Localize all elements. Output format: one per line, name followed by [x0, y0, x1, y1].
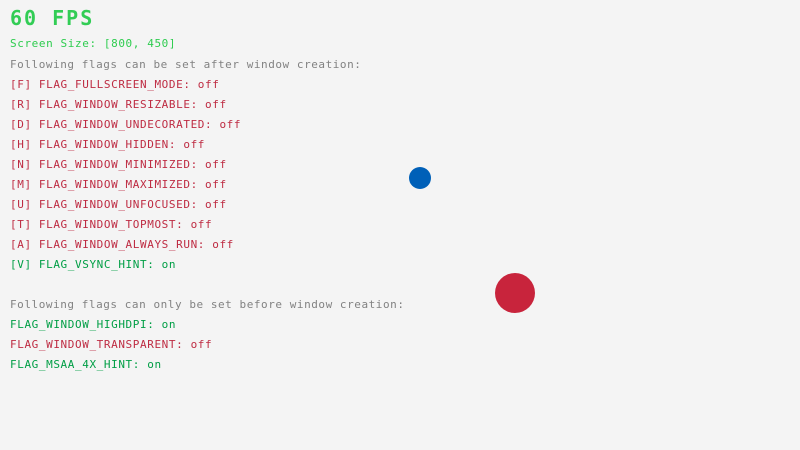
flag-toggle-flag-fullscreen-mode[interactable]: [F] FLAG_FULLSCREEN_MODE: off	[10, 79, 219, 90]
flag-static-flag-window-highdpi[interactable]: FLAG_WINDOW_HIGHDPI: on	[10, 319, 176, 330]
flag-toggle-flag-window-resizable[interactable]: [R] FLAG_WINDOW_RESIZABLE: off	[10, 99, 227, 110]
flag-toggle-flag-window-undecorated[interactable]: [D] FLAG_WINDOW_UNDECORATED: off	[10, 119, 241, 130]
flag-toggle-flag-window-minimized[interactable]: [N] FLAG_WINDOW_MINIMIZED: off	[10, 159, 227, 170]
flag-toggle-flag-window-topmost[interactable]: [T] FLAG_WINDOW_TOPMOST: off	[10, 219, 212, 230]
screen-size-label: Screen Size: [800, 450]	[10, 38, 176, 49]
flag-static-flag-msaa-4x-hint[interactable]: FLAG_MSAA_4X_HINT: on	[10, 359, 162, 370]
section-header-startup-flags: Following flags can only be set before w…	[10, 299, 405, 310]
flag-static-flag-window-transparent[interactable]: FLAG_WINDOW_TRANSPARENT: off	[10, 339, 212, 350]
flag-toggle-flag-window-always-run[interactable]: [A] FLAG_WINDOW_ALWAYS_RUN: off	[10, 239, 234, 250]
section-header-runtime-flags: Following flags can be set after window …	[10, 59, 361, 70]
flag-toggle-flag-window-unfocused[interactable]: [U] FLAG_WINDOW_UNFOCUSED: off	[10, 199, 227, 210]
fps-counter: 60 FPS	[10, 8, 94, 28]
flag-toggle-flag-vsync-hint[interactable]: [V] FLAG_VSYNC_HINT: on	[10, 259, 176, 270]
raylib-window-canvas: 60 FPS Screen Size: [800, 450] Following…	[0, 0, 800, 450]
flag-toggle-flag-window-maximized[interactable]: [M] FLAG_WINDOW_MAXIMIZED: off	[10, 179, 227, 190]
flag-toggle-flag-window-hidden[interactable]: [H] FLAG_WINDOW_HIDDEN: off	[10, 139, 205, 150]
blue-ball-shape	[409, 167, 431, 189]
red-ball-shape	[495, 273, 535, 313]
